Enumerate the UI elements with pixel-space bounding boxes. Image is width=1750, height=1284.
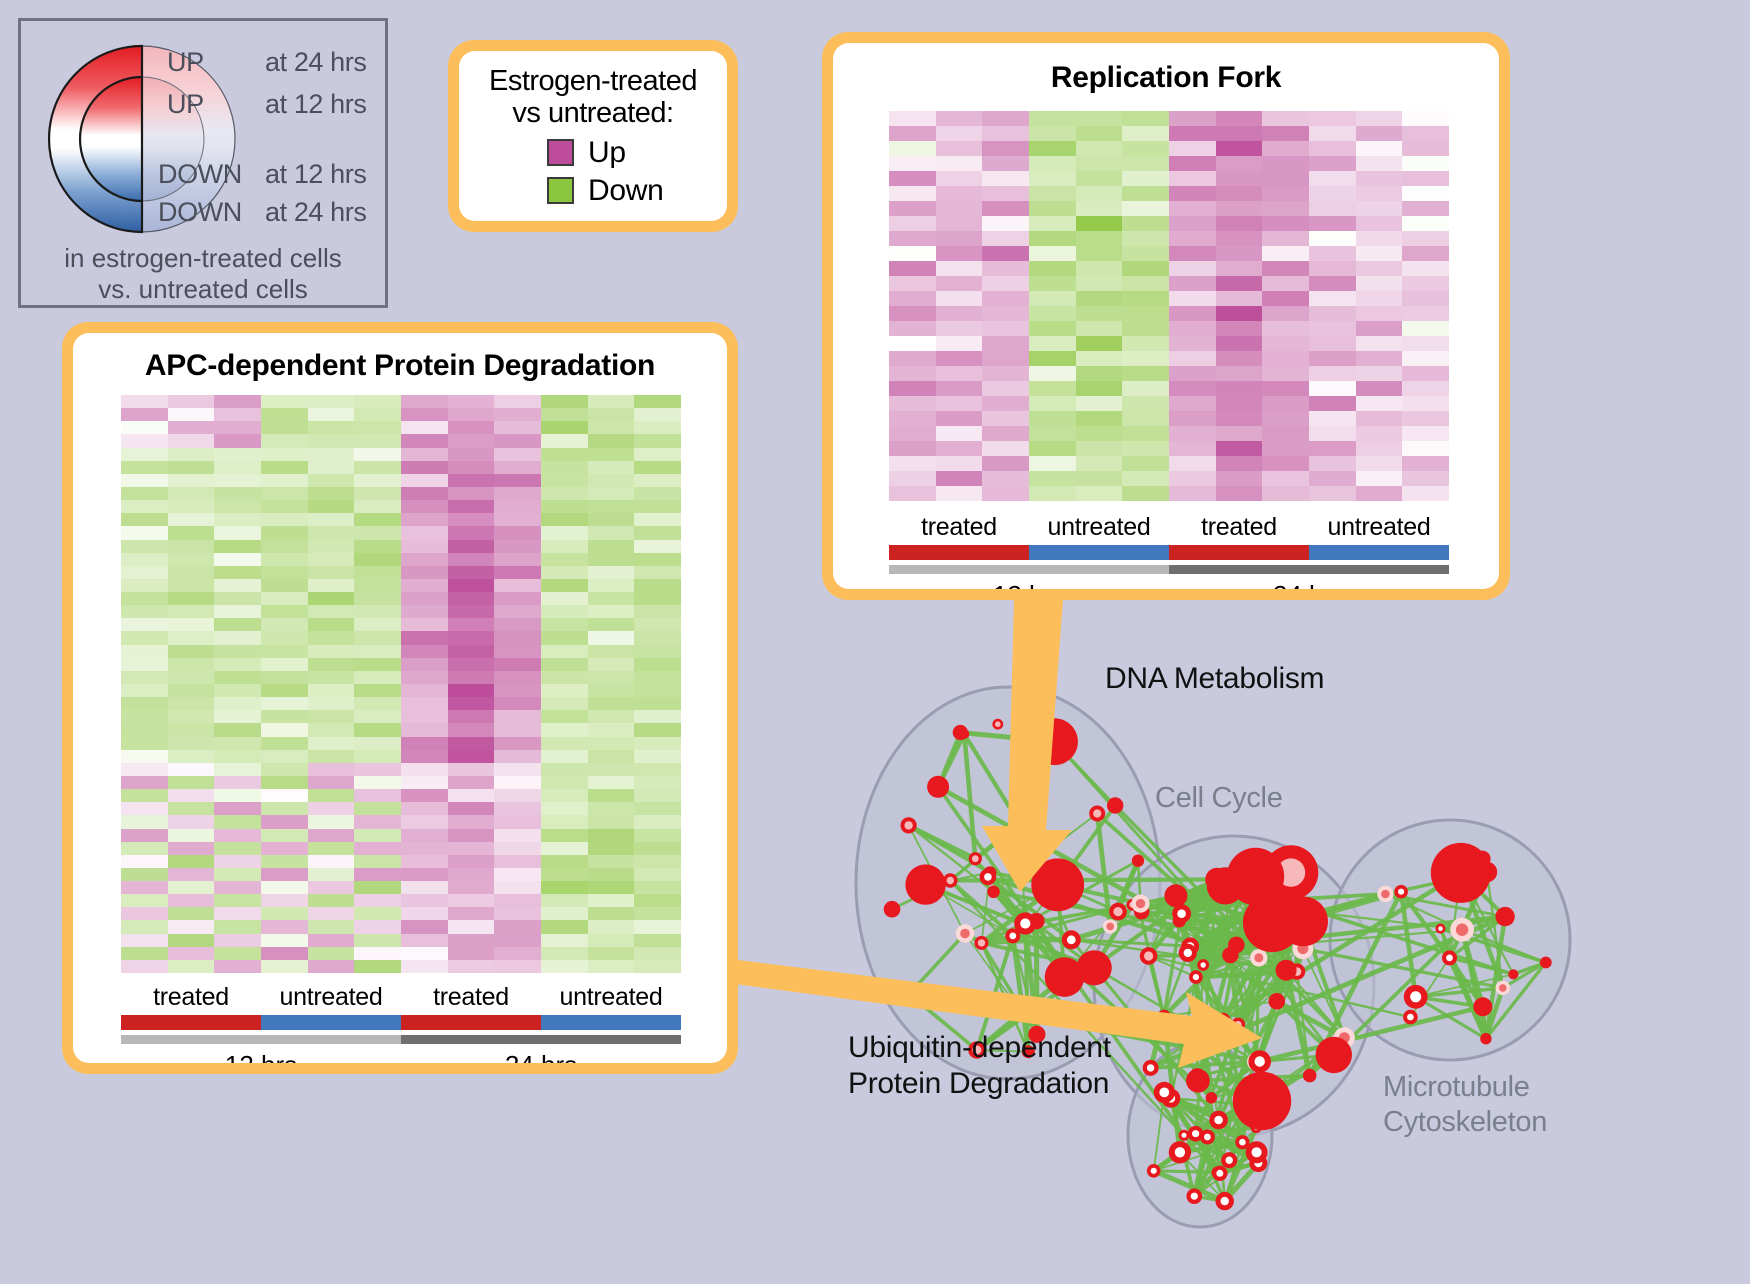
heatmap-cell bbox=[261, 645, 308, 658]
network-node bbox=[1132, 855, 1144, 867]
heatmap-cell bbox=[936, 411, 983, 426]
heatmap-cell bbox=[634, 631, 681, 644]
heatmap-cell bbox=[448, 934, 495, 947]
heatmap-cell bbox=[494, 737, 541, 750]
heatmap-cell bbox=[354, 934, 401, 947]
heatmap-cell bbox=[889, 111, 936, 126]
heatmap-cell bbox=[1262, 141, 1309, 156]
heatmap-cell bbox=[261, 868, 308, 881]
group-label: treated bbox=[121, 983, 261, 1012]
heatmap-cell bbox=[354, 408, 401, 421]
heatmap-cell bbox=[1029, 126, 1076, 141]
heatmap-cell bbox=[168, 618, 215, 631]
cluster-label-cell-cycle: Cell Cycle bbox=[1155, 782, 1283, 815]
time-label-24hrs: 24 hrs bbox=[1169, 580, 1449, 589]
heatmap-cell bbox=[354, 920, 401, 933]
heatmap-cell bbox=[936, 231, 983, 246]
heatmap-cell bbox=[1169, 141, 1216, 156]
heatmap-cell bbox=[121, 842, 168, 855]
heatmap-cell bbox=[1216, 216, 1263, 231]
heatmap-cell bbox=[354, 448, 401, 461]
heatmap-cell bbox=[494, 894, 541, 907]
network-node bbox=[1473, 997, 1492, 1016]
heatmap-cell bbox=[1076, 231, 1123, 246]
heatmap-cell bbox=[354, 395, 401, 408]
heatmap-cell bbox=[1309, 306, 1356, 321]
heatmap-cell bbox=[308, 697, 355, 710]
heatmap-cell bbox=[261, 894, 308, 907]
network-node bbox=[1508, 969, 1518, 979]
heatmap-cell bbox=[1216, 201, 1263, 216]
network-node-core bbox=[960, 929, 970, 939]
heatmap-cell bbox=[936, 141, 983, 156]
heatmap-cell bbox=[1262, 471, 1309, 486]
heatmap-cell bbox=[1309, 291, 1356, 306]
network-node bbox=[1243, 894, 1302, 953]
heatmap-cell bbox=[634, 395, 681, 408]
heatmap-cell bbox=[1216, 441, 1263, 456]
heatmap-cell bbox=[401, 448, 448, 461]
heatmap-cell bbox=[1029, 231, 1076, 246]
heatmap-cell bbox=[261, 723, 308, 736]
heatmap-cell bbox=[121, 789, 168, 802]
heatmap-cell bbox=[634, 500, 681, 513]
heatmap-cell bbox=[1262, 441, 1309, 456]
heatmap-cell bbox=[448, 487, 495, 500]
heatmap-cell bbox=[261, 461, 308, 474]
heatmap-cell bbox=[168, 513, 215, 526]
heatmap-cell bbox=[634, 737, 681, 750]
heatmap-cell bbox=[214, 881, 261, 894]
heatmap-cell bbox=[982, 426, 1029, 441]
heatmap-cell bbox=[1029, 261, 1076, 276]
heatmap-cell bbox=[541, 815, 588, 828]
cluster-label-microtubule-cytoskeleton: Microtubule Cytoskeleton bbox=[1383, 1070, 1547, 1140]
heatmap-cell bbox=[1309, 201, 1356, 216]
heatmap-cell bbox=[1216, 471, 1263, 486]
heatmap-cell bbox=[214, 448, 261, 461]
heatmap-cell bbox=[982, 216, 1029, 231]
heatmap-cell bbox=[634, 710, 681, 723]
heatmap-cell bbox=[1309, 246, 1356, 261]
network-node-core bbox=[1201, 962, 1206, 967]
heatmap-cell bbox=[936, 366, 983, 381]
heatmap-cell bbox=[308, 513, 355, 526]
heatmap-cell bbox=[1076, 366, 1123, 381]
heatmap-cell bbox=[634, 540, 681, 553]
apc-dependent-title: APC-dependent Protein Degradation bbox=[73, 349, 727, 383]
heatmap-cell bbox=[889, 426, 936, 441]
heatmap-cell bbox=[448, 618, 495, 631]
heatmap-cell bbox=[1309, 216, 1356, 231]
heatmap-cell bbox=[401, 434, 448, 447]
heatmap-cell bbox=[1216, 126, 1263, 141]
heatmap-cell bbox=[1356, 111, 1403, 126]
heatmap-cell bbox=[634, 815, 681, 828]
figure-root: UP at 24 hrs UP at 12 hrs DOWN at 12 hrs… bbox=[0, 0, 1750, 1279]
heatmap-cell bbox=[448, 579, 495, 592]
heatmap-cell bbox=[308, 592, 355, 605]
heatmap-cell bbox=[401, 723, 448, 736]
heatmap-cell bbox=[261, 684, 308, 697]
heatmap-cell bbox=[448, 645, 495, 658]
heatmap-cell bbox=[1402, 441, 1449, 456]
heatmap-cell bbox=[121, 947, 168, 960]
time-label-12hrs: 12 hrs bbox=[889, 580, 1169, 589]
heatmap-cell bbox=[1262, 126, 1309, 141]
heatmap-cell bbox=[448, 421, 495, 434]
heatmap-cell bbox=[541, 448, 588, 461]
legend-title-line2: vs untreated: bbox=[469, 97, 717, 129]
heatmap-cell bbox=[634, 448, 681, 461]
heatmap-cell bbox=[541, 776, 588, 789]
heatmap-cell bbox=[354, 631, 401, 644]
time-bar-24hrs bbox=[401, 1035, 681, 1044]
heatmap-cell bbox=[308, 947, 355, 960]
heatmap-cell bbox=[1309, 276, 1356, 291]
heatmap-cell bbox=[1262, 336, 1309, 351]
heatmap-cell bbox=[982, 141, 1029, 156]
heatmap-cell bbox=[121, 934, 168, 947]
heatmap-cell bbox=[936, 456, 983, 471]
heatmap-cell bbox=[1402, 321, 1449, 336]
heatmap-cell bbox=[168, 947, 215, 960]
heatmap-cell bbox=[168, 684, 215, 697]
heatmap-cell bbox=[401, 920, 448, 933]
heatmap-cell bbox=[541, 710, 588, 723]
heatmap-cell bbox=[448, 737, 495, 750]
heatmap-cell bbox=[541, 474, 588, 487]
heatmap-cell bbox=[168, 750, 215, 763]
heatmap-cell bbox=[1402, 381, 1449, 396]
replication-fork-title: Replication Fork bbox=[833, 61, 1499, 95]
heatmap-cell bbox=[541, 960, 588, 973]
heatmap-cell bbox=[634, 697, 681, 710]
heatmap-cell bbox=[448, 881, 495, 894]
heatmap-cell bbox=[401, 697, 448, 710]
heatmap-cell bbox=[634, 658, 681, 671]
heatmap-cell bbox=[1169, 261, 1216, 276]
heatmap-cell bbox=[541, 920, 588, 933]
heatmap-cell bbox=[448, 947, 495, 960]
heatmap-cell bbox=[121, 737, 168, 750]
heatmap-cell bbox=[401, 566, 448, 579]
heatmap-cell bbox=[494, 684, 541, 697]
heatmap-cell bbox=[261, 789, 308, 802]
network-node-core bbox=[1151, 1168, 1157, 1174]
heatmap-cell bbox=[354, 434, 401, 447]
heatmap-cell bbox=[1309, 396, 1356, 411]
heatmap-cell bbox=[634, 829, 681, 842]
heatmap-cell bbox=[1356, 321, 1403, 336]
heatmap-cell bbox=[261, 920, 308, 933]
heatmap-cell bbox=[982, 441, 1029, 456]
heatmap-cell bbox=[354, 710, 401, 723]
key-label-up-24: UP bbox=[167, 47, 204, 78]
network-node-core bbox=[972, 855, 979, 862]
heatmap-cell bbox=[121, 434, 168, 447]
heatmap-cell bbox=[588, 697, 635, 710]
heatmap-cell bbox=[448, 553, 495, 566]
heatmap-cell bbox=[634, 434, 681, 447]
heatmap-cell bbox=[541, 829, 588, 842]
heatmap-cell bbox=[1122, 366, 1169, 381]
heatmap-cell bbox=[1262, 201, 1309, 216]
heatmap-cell bbox=[308, 434, 355, 447]
replication-fork-axis: treated untreated treated untreated 12 h bbox=[889, 513, 1449, 589]
heatmap-cell bbox=[588, 592, 635, 605]
network-node-core bbox=[1177, 909, 1186, 918]
heatmap-cell bbox=[889, 156, 936, 171]
heatmap-cell bbox=[1169, 306, 1216, 321]
heatmap-cell bbox=[261, 434, 308, 447]
heatmap-cell bbox=[354, 671, 401, 684]
heatmap-cell bbox=[541, 605, 588, 618]
heatmap-cell bbox=[354, 947, 401, 960]
color-key-box: UP at 24 hrs UP at 12 hrs DOWN at 12 hrs… bbox=[18, 18, 388, 308]
heatmap-cell bbox=[494, 474, 541, 487]
heatmap-cell bbox=[214, 868, 261, 881]
heatmap-cell bbox=[448, 894, 495, 907]
heatmap-cell bbox=[1029, 456, 1076, 471]
heatmap-cell bbox=[401, 645, 448, 658]
heatmap-cell bbox=[634, 645, 681, 658]
key-caption-line1: in estrogen-treated cells bbox=[21, 243, 385, 274]
network-node-core bbox=[1255, 1056, 1265, 1066]
heatmap-cell bbox=[1169, 336, 1216, 351]
heatmap-cell bbox=[401, 855, 448, 868]
heatmap-cell bbox=[1029, 186, 1076, 201]
heatmap-cell bbox=[634, 789, 681, 802]
heatmap-cell bbox=[121, 553, 168, 566]
heatmap-cell bbox=[541, 487, 588, 500]
heatmap-cell bbox=[401, 671, 448, 684]
heatmap-cell bbox=[121, 513, 168, 526]
heatmap-cell bbox=[634, 566, 681, 579]
heatmap-cell bbox=[1122, 201, 1169, 216]
heatmap-cell bbox=[634, 763, 681, 776]
heatmap-cell bbox=[889, 126, 936, 141]
legend-title-line1: Estrogen-treated bbox=[469, 65, 717, 97]
heatmap-cell bbox=[1402, 186, 1449, 201]
heatmap-cell bbox=[168, 645, 215, 658]
heatmap-cell bbox=[214, 513, 261, 526]
heatmap-cell bbox=[308, 526, 355, 539]
heatmap-cell bbox=[121, 868, 168, 881]
heatmap-cell bbox=[168, 737, 215, 750]
heatmap-cell bbox=[541, 500, 588, 513]
heatmap-cell bbox=[588, 658, 635, 671]
heatmap-cell bbox=[634, 605, 681, 618]
heatmap-cell bbox=[588, 710, 635, 723]
key-label-down-24: DOWN bbox=[158, 197, 242, 228]
heatmap-cell bbox=[1076, 351, 1123, 366]
heatmap-cell bbox=[1169, 351, 1216, 366]
network-node bbox=[1107, 797, 1123, 813]
replication-fork-time-labels: 12 hrs 24 hrs bbox=[889, 580, 1449, 589]
heatmap-cell bbox=[448, 802, 495, 815]
heatmap-cell bbox=[401, 579, 448, 592]
heatmap-cell bbox=[448, 395, 495, 408]
network-node-core bbox=[1106, 923, 1114, 931]
heatmap-cell bbox=[982, 186, 1029, 201]
heatmap-cell bbox=[494, 842, 541, 855]
heatmap-cell bbox=[1216, 336, 1263, 351]
heatmap-cell bbox=[889, 486, 936, 501]
group-label: untreated bbox=[261, 983, 401, 1012]
heatmap-cell bbox=[541, 723, 588, 736]
heatmap-cell bbox=[308, 723, 355, 736]
heatmap-cell bbox=[1076, 486, 1123, 501]
heatmap-cell bbox=[494, 421, 541, 434]
heatmap-cell bbox=[634, 487, 681, 500]
heatmap-cell bbox=[261, 763, 308, 776]
network-node bbox=[884, 901, 901, 918]
heatmap-cell bbox=[1169, 126, 1216, 141]
heatmap-cell bbox=[1262, 111, 1309, 126]
heatmap-cell bbox=[354, 461, 401, 474]
heatmap-cell bbox=[1356, 201, 1403, 216]
heatmap-cell bbox=[401, 487, 448, 500]
apc-dependent-heatmap bbox=[121, 395, 681, 973]
legend-swatch-up-icon bbox=[547, 139, 574, 166]
heatmap-cell bbox=[261, 408, 308, 421]
heatmap-cell bbox=[982, 201, 1029, 216]
heatmap-cell bbox=[1029, 321, 1076, 336]
network-node-core bbox=[1067, 935, 1076, 944]
heatmap-cell bbox=[121, 920, 168, 933]
heatmap-cell bbox=[401, 868, 448, 881]
network-node-core bbox=[1381, 890, 1390, 899]
heatmap-cell bbox=[214, 934, 261, 947]
heatmap-cell bbox=[588, 487, 635, 500]
heatmap-cell bbox=[982, 381, 1029, 396]
heatmap-cell bbox=[889, 291, 936, 306]
network-node bbox=[1480, 1033, 1491, 1044]
heatmap-cell bbox=[982, 171, 1029, 186]
heatmap-cell bbox=[588, 776, 635, 789]
heatmap-cell bbox=[634, 553, 681, 566]
heatmap-cell bbox=[1262, 351, 1309, 366]
group-bar-untreated bbox=[541, 1015, 681, 1030]
heatmap-cell bbox=[541, 395, 588, 408]
heatmap-cell bbox=[1122, 426, 1169, 441]
network-node-core bbox=[1226, 1157, 1233, 1164]
heatmap-cell bbox=[541, 763, 588, 776]
heatmap-cell bbox=[121, 526, 168, 539]
group-bar-treated bbox=[401, 1015, 541, 1030]
heatmap-cell bbox=[121, 829, 168, 842]
network-node-core bbox=[1219, 1017, 1226, 1024]
legend-item-down: Down bbox=[547, 172, 717, 210]
heatmap-cell bbox=[1262, 411, 1309, 426]
heatmap-cell bbox=[1402, 486, 1449, 501]
heatmap-cell bbox=[936, 321, 983, 336]
heatmap-cell bbox=[634, 592, 681, 605]
heatmap-cell bbox=[1122, 231, 1169, 246]
heatmap-cell bbox=[214, 540, 261, 553]
heatmap-cell bbox=[634, 802, 681, 815]
heatmap-cell bbox=[494, 513, 541, 526]
heatmap-cell bbox=[1122, 306, 1169, 321]
heatmap-cell bbox=[261, 855, 308, 868]
heatmap-cell bbox=[448, 960, 495, 973]
heatmap-cell bbox=[401, 658, 448, 671]
heatmap-cell bbox=[1309, 126, 1356, 141]
heatmap-cell bbox=[494, 592, 541, 605]
heatmap-cell bbox=[354, 855, 401, 868]
heatmap-cell bbox=[936, 396, 983, 411]
heatmap-cell bbox=[494, 815, 541, 828]
network-node-core bbox=[1214, 1116, 1223, 1125]
heatmap-cell bbox=[214, 829, 261, 842]
heatmap-cell bbox=[1216, 276, 1263, 291]
replication-fork-group-labels: treated untreated treated untreated bbox=[889, 513, 1449, 542]
group-bar-untreated bbox=[261, 1015, 401, 1030]
heatmap-cell bbox=[121, 461, 168, 474]
heatmap-cell bbox=[168, 697, 215, 710]
heatmap-cell bbox=[494, 723, 541, 736]
heatmap-cell bbox=[261, 842, 308, 855]
heatmap-cell bbox=[1169, 156, 1216, 171]
heatmap-cell bbox=[261, 421, 308, 434]
heatmap-cell bbox=[448, 684, 495, 697]
heatmap-cell bbox=[121, 855, 168, 868]
heatmap-cell bbox=[261, 907, 308, 920]
heatmap-cell bbox=[354, 829, 401, 842]
heatmap-cell bbox=[634, 461, 681, 474]
heatmap-cell bbox=[168, 920, 215, 933]
heatmap-cell bbox=[1402, 156, 1449, 171]
heatmap-cell bbox=[1402, 141, 1449, 156]
network-node-core bbox=[1407, 1014, 1414, 1021]
network-node bbox=[1031, 858, 1084, 911]
heatmap-cell bbox=[1216, 246, 1263, 261]
heatmap-cell bbox=[1309, 456, 1356, 471]
heatmap-cell bbox=[588, 605, 635, 618]
heatmap-cell bbox=[936, 471, 983, 486]
heatmap-cell bbox=[261, 710, 308, 723]
network-node-core bbox=[1182, 1133, 1187, 1138]
heatmap-cell bbox=[982, 156, 1029, 171]
heatmap-cell bbox=[588, 421, 635, 434]
heatmap-cell bbox=[214, 395, 261, 408]
heatmap-cell bbox=[982, 336, 1029, 351]
group-label: treated bbox=[1169, 513, 1309, 542]
heatmap-cell bbox=[982, 306, 1029, 321]
heatmap-cell bbox=[1169, 321, 1216, 336]
heatmap-cell bbox=[494, 934, 541, 947]
group-label: treated bbox=[401, 983, 541, 1012]
heatmap-cell bbox=[1216, 321, 1263, 336]
heatmap-cell bbox=[494, 618, 541, 631]
heatmap-cell bbox=[354, 750, 401, 763]
heatmap-cell bbox=[494, 881, 541, 894]
heatmap-cell bbox=[1076, 261, 1123, 276]
heatmap-cell bbox=[448, 592, 495, 605]
heatmap-cell bbox=[261, 960, 308, 973]
heatmap-cell bbox=[214, 474, 261, 487]
heatmap-cell bbox=[588, 448, 635, 461]
heatmap-cell bbox=[1029, 381, 1076, 396]
heatmap-cell bbox=[889, 381, 936, 396]
heatmap-cell bbox=[121, 487, 168, 500]
heatmap-cell bbox=[1029, 141, 1076, 156]
heatmap-cell bbox=[1029, 486, 1076, 501]
network-node-core bbox=[1252, 1147, 1262, 1157]
heatmap-cell bbox=[214, 907, 261, 920]
heatmap-cell bbox=[1169, 216, 1216, 231]
